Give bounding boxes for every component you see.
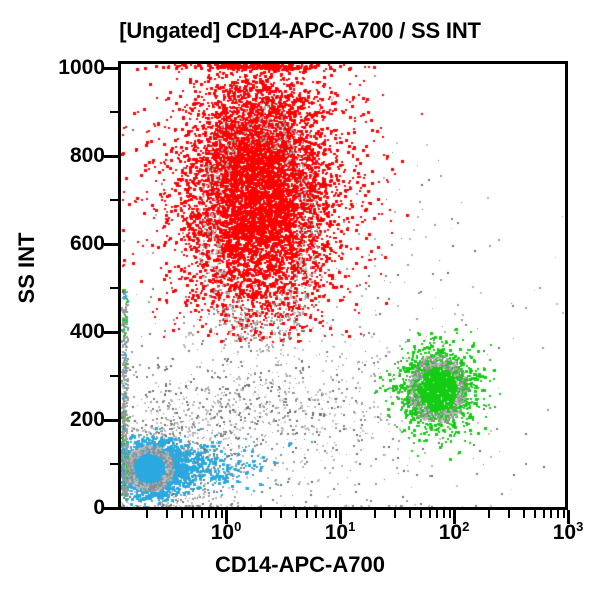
y-axis-title: SS INT: [14, 208, 40, 328]
y-tick-minor: [110, 199, 118, 201]
x-tick-label: 103: [553, 521, 584, 545]
x-tick-minor: [508, 510, 510, 518]
x-axis-title: CD14-APC-A700: [0, 552, 600, 578]
x-tick-minor: [488, 510, 490, 518]
x-tick-minor: [420, 510, 422, 518]
x-tick-minor: [335, 510, 337, 518]
x-tick-minor: [221, 510, 223, 518]
x-tick-label: 102: [439, 521, 470, 545]
y-tick-label: 200: [70, 409, 105, 430]
x-tick-minor: [563, 510, 565, 518]
x-tick-minor: [322, 510, 324, 518]
x-tick-label: 101: [325, 521, 356, 545]
x-tick-minor: [201, 510, 203, 518]
x-tick-minor: [557, 510, 559, 518]
x-tick-minor: [523, 510, 525, 518]
y-tick-major: [104, 155, 118, 158]
x-tick-minor: [436, 510, 438, 518]
scatter-canvas[interactable]: [121, 64, 565, 507]
x-tick-minor: [146, 510, 148, 518]
x-tick-minor: [280, 510, 282, 518]
x-tick-minor: [374, 510, 376, 518]
x-tick-minor: [181, 510, 183, 518]
x-tick-minor: [534, 510, 536, 518]
x-tick-minor: [208, 510, 210, 518]
y-tick-major: [104, 419, 118, 422]
x-tick-minor: [192, 510, 194, 518]
y-tick-label: 400: [70, 321, 105, 342]
y-tick-minor: [110, 463, 118, 465]
y-tick-major: [104, 331, 118, 334]
y-tick-label: 0: [93, 497, 105, 518]
y-tick-major: [104, 243, 118, 246]
y-tick-minor: [110, 287, 118, 289]
x-tick-minor: [443, 510, 445, 518]
y-tick-minor: [110, 375, 118, 377]
x-tick-minor: [295, 510, 297, 518]
x-tick-label: 100: [211, 521, 242, 545]
x-tick-minor: [215, 510, 217, 518]
x-tick-minor: [315, 510, 317, 518]
flow-cytometry-plot: [Ungated] CD14-APC-A700 / SS INT 0200400…: [0, 0, 600, 600]
plot-area[interactable]: [118, 61, 568, 510]
x-tick-minor: [260, 510, 262, 518]
x-tick-minor: [306, 510, 308, 518]
x-tick-minor: [166, 510, 168, 518]
y-tick-major: [104, 507, 118, 510]
y-tick-label: 1000: [58, 57, 105, 78]
x-tick-minor: [429, 510, 431, 518]
y-tick-major: [104, 67, 118, 70]
y-tick-minor: [110, 111, 118, 113]
x-tick-minor: [329, 510, 331, 518]
y-tick-label: 600: [70, 233, 105, 254]
x-tick-minor: [550, 510, 552, 518]
x-tick-minor: [409, 510, 411, 518]
x-tick-minor: [543, 510, 545, 518]
y-tick-label: 800: [70, 145, 105, 166]
x-tick-minor: [394, 510, 396, 518]
x-tick-minor: [449, 510, 451, 518]
